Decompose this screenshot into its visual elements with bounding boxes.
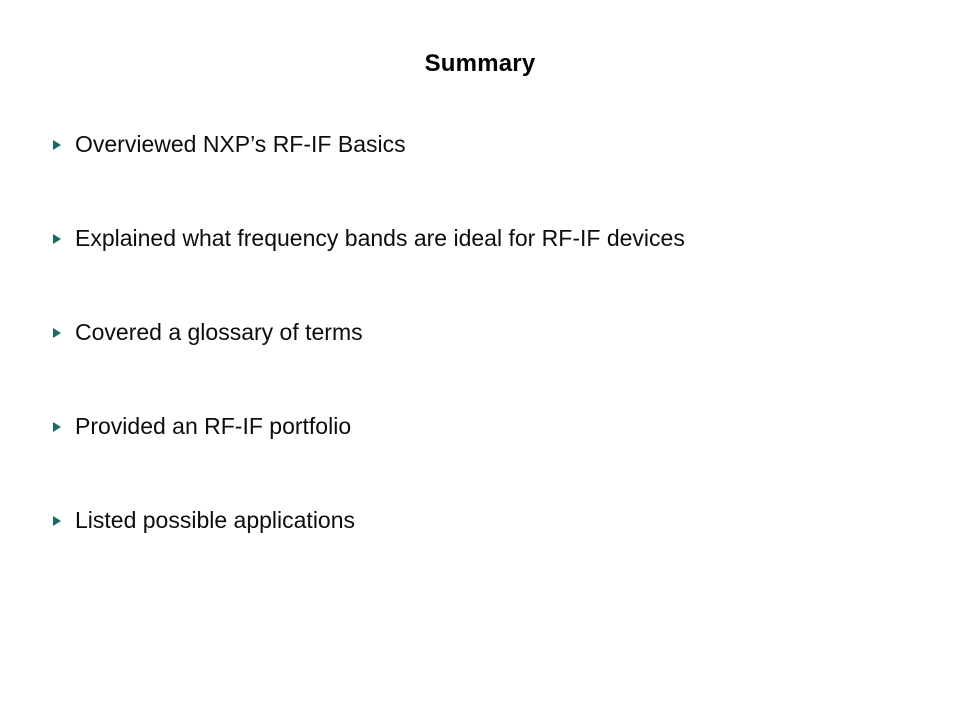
- triangle-right-icon: [52, 316, 75, 349]
- summary-bullet-list: Overviewed NXP’s RF-IF Basics Explained …: [52, 128, 932, 598]
- triangle-right-icon: [52, 504, 75, 537]
- list-item-label: Explained what frequency bands are ideal…: [75, 222, 932, 254]
- list-item: Overviewed NXP’s RF-IF Basics: [52, 128, 932, 222]
- list-item-label: Overviewed NXP’s RF-IF Basics: [75, 128, 932, 160]
- list-item: Explained what frequency bands are ideal…: [52, 222, 932, 316]
- triangle-right-icon: [52, 128, 75, 161]
- list-item-label: Covered a glossary of terms: [75, 316, 932, 348]
- triangle-right-icon: [52, 410, 75, 443]
- list-item: Provided an RF-IF portfolio: [52, 410, 932, 504]
- presentation-slide: Summary Overviewed NXP’s RF-IF Basics Ex…: [0, 0, 960, 720]
- list-item: Covered a glossary of terms: [52, 316, 932, 410]
- triangle-right-icon: [52, 222, 75, 255]
- list-item-label: Provided an RF-IF portfolio: [75, 410, 932, 442]
- list-item: Listed possible applications: [52, 504, 932, 598]
- page-title: Summary: [0, 50, 960, 78]
- list-item-label: Listed possible applications: [75, 504, 932, 536]
